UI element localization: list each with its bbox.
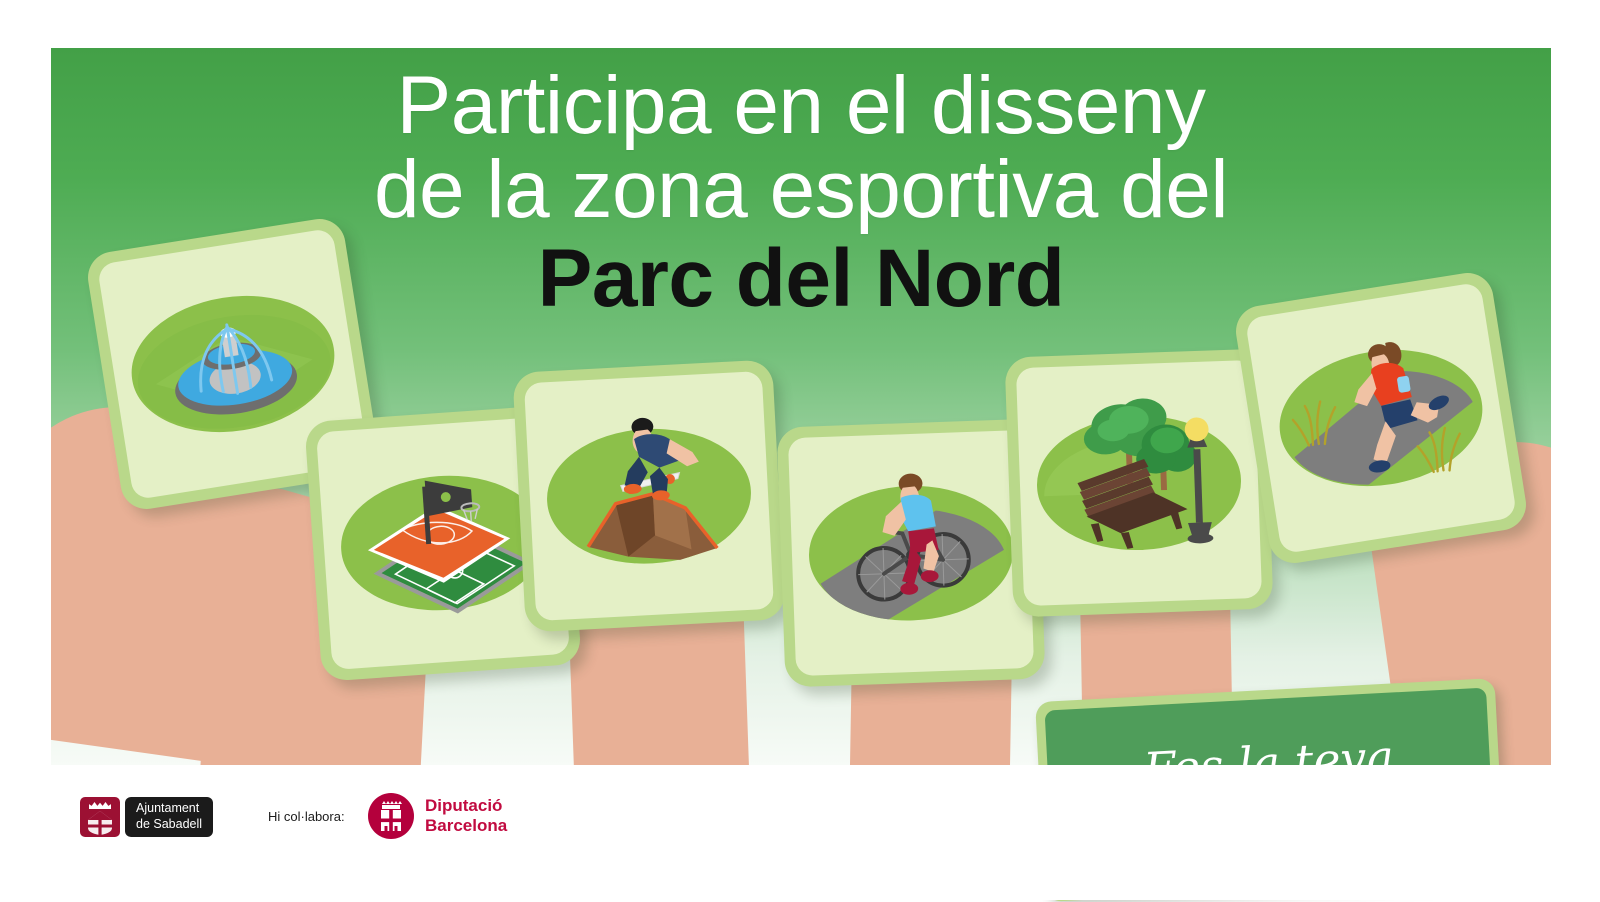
sabadell-line-2: de Sabadell — [136, 817, 202, 833]
shield-cross-icon — [87, 811, 113, 835]
card-running-path-inner — [1245, 282, 1517, 554]
diputacio-wordmark: Diputació Barcelona — [425, 796, 507, 836]
card-skate-ramp[interactable] — [512, 359, 785, 632]
cycling-path-icon — [788, 430, 1034, 676]
logo-ajuntament-sabadell[interactable]: Ajuntament de Sabadell — [80, 797, 213, 837]
card-cycling-path-inner — [788, 430, 1034, 676]
card-park-bench-inner — [1016, 360, 1262, 606]
diputacio-emblem-icon — [368, 793, 414, 839]
headline-line-2: de la zona esportiva del — [51, 148, 1551, 232]
card-cycling-path[interactable] — [777, 419, 1046, 688]
footer-logos: Ajuntament de Sabadell Hi col·labora: Di… — [0, 765, 1600, 900]
diputacio-line-2: Barcelona — [425, 816, 507, 836]
card-running-path[interactable] — [1232, 269, 1529, 566]
banner-stage: Participa en el disseny de la zona espor… — [0, 0, 1600, 900]
green-banner-panel: Participa en el disseny de la zona espor… — [51, 48, 1551, 765]
collaborate-label: Hi col·labora: — [268, 809, 345, 824]
running-path-icon — [1245, 282, 1517, 554]
skate-ramp-icon — [524, 371, 774, 621]
headline-line-1: Participa en el disseny — [51, 64, 1551, 148]
crown-icon — [89, 802, 111, 809]
card-skate-ramp-inner — [524, 371, 774, 621]
sabadell-shield-icon — [80, 797, 120, 837]
logo-diputacio-barcelona[interactable]: Diputació Barcelona — [368, 793, 507, 839]
diputacio-line-1: Diputació — [425, 796, 507, 816]
sabadell-name-box: Ajuntament de Sabadell — [125, 797, 213, 837]
diputacio-cross-icon — [368, 793, 414, 839]
sabadell-line-1: Ajuntament — [136, 801, 202, 817]
park-bench-icon — [1016, 360, 1262, 606]
card-park-bench[interactable] — [1005, 349, 1274, 618]
